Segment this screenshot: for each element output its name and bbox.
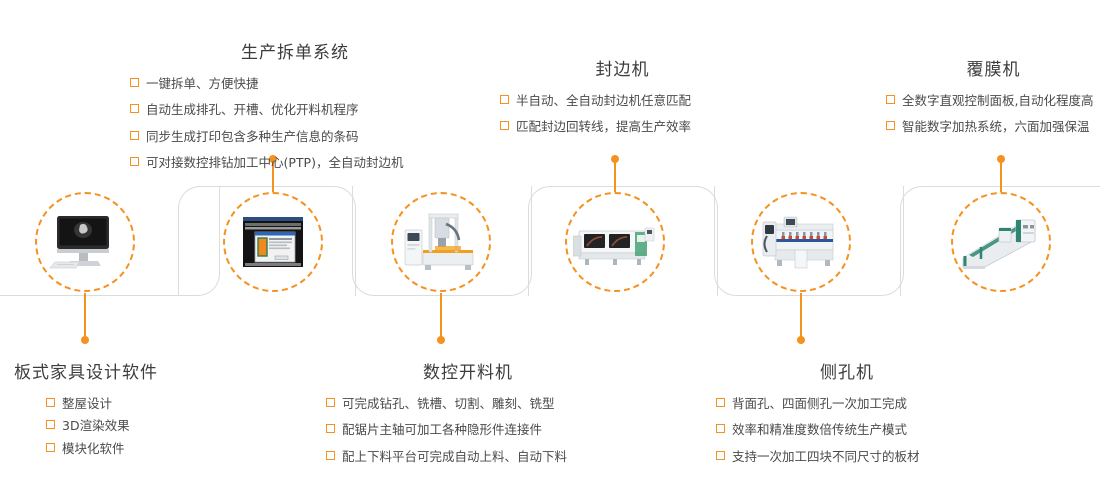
infographic-canvas: 生产拆单系统 一键拆单、方便快捷 自动生成排孔、开槽、优化开料机程序 同步生成打… [0,0,1100,495]
list-item: 效率和精准度数倍传统生产模式 [716,420,978,439]
section-title-order-splitting: 生产拆单系统 [130,38,460,63]
list-item: 自动生成排孔、开槽、优化开料机程序 [130,100,460,119]
list-item: 一键拆单、方便快捷 [130,74,460,93]
side-drilling-machine-icon [759,206,843,278]
section-title-edge-bander: 封边机 [500,55,745,80]
node-circle-order-splitting[interactable] [223,192,323,292]
list-item: 全数字直观控制面板,自动化程度高 [886,91,1100,110]
connector-dot-cnc-router [437,336,445,344]
connector-stem-side-driller [800,293,802,339]
imac-computer-icon [43,206,127,278]
section-title-laminator: 覆膜机 [886,55,1100,80]
feature-list-side-driller: 背面孔、四面侧孔一次加工完成 效率和精准度数倍传统生产模式 支持一次加工四块不同… [716,394,978,466]
laminating-machine-icon [959,206,1043,278]
list-item: 支持一次加工四块不同尺寸的板材 [716,447,978,466]
list-item: 半自动、全自动封边机任意匹配 [500,91,745,110]
text-block-design-software: 板式家具设计软件 整屋设计 3D渲染效果 模块化软件 [14,358,234,461]
list-item: 同步生成打印包含多种生产信息的条码 [130,127,460,146]
section-title-design-software: 板式家具设计软件 [14,358,234,383]
list-item: 背面孔、四面侧孔一次加工完成 [716,394,978,413]
edge-banding-machine-icon [573,206,657,278]
list-item: 配上下料平台可完成自动上料、自动下料 [326,447,610,466]
cnc-router-machine-icon [399,206,483,278]
list-item: 智能数字加热系统，六面加强保温 [886,117,1100,136]
cad-software-screen-icon [231,206,315,278]
connector-dot-laminator [997,155,1005,163]
text-block-edge-bander: 封边机 半自动、全自动封边机任意匹配 匹配封边回转线，提高生产效率 [500,55,745,144]
list-item: 可对接数控排钻加工中心(PTP)，全自动封边机 [130,153,460,172]
node-circle-side-driller[interactable] [751,192,851,292]
connector-dot-edge-bander [611,155,619,163]
list-item: 匹配封边回转线，提高生产效率 [500,117,745,136]
node-circle-design-software[interactable] [35,192,135,292]
text-block-cnc-router: 数控开料机 可完成钻孔、铣槽、切割、雕刻、铣型 配锯片主轴可加工各种隐形件连接件… [326,358,610,473]
list-item: 配锯片主轴可加工各种隐形件连接件 [326,420,610,439]
text-block-laminator: 覆膜机 全数字直观控制面板,自动化程度高 智能数字加热系统，六面加强保温 [886,55,1100,144]
feature-list-laminator: 全数字直观控制面板,自动化程度高 智能数字加热系统，六面加强保温 [886,91,1100,137]
feature-list-order-splitting: 一键拆单、方便快捷 自动生成排孔、开槽、优化开料机程序 同步生成打印包含多种生产… [130,74,460,173]
list-item: 模块化软件 [46,439,234,458]
node-circle-laminator[interactable] [951,192,1051,292]
section-title-cnc-router: 数控开料机 [326,358,610,383]
feature-list-edge-bander: 半自动、全自动封边机任意匹配 匹配封边回转线，提高生产效率 [500,91,745,137]
connector-stem-cnc-router [440,293,442,339]
connector-dot-design-software [81,336,89,344]
text-block-order-splitting: 生产拆单系统 一键拆单、方便快捷 自动生成排孔、开槽、优化开料机程序 同步生成打… [130,38,460,180]
connector-dot-side-driller [797,336,805,344]
connector-stem-design-software [84,293,86,339]
node-circle-edge-bander[interactable] [565,192,665,292]
list-item: 可完成钻孔、铣槽、切割、雕刻、铣型 [326,394,610,413]
node-circle-cnc-router[interactable] [391,192,491,292]
list-item: 整屋设计 [46,394,234,413]
feature-list-cnc-router: 可完成钻孔、铣槽、切割、雕刻、铣型 配锯片主轴可加工各种隐形件连接件 配上下料平… [326,394,610,466]
section-title-side-driller: 侧孔机 [716,358,978,383]
feature-list-design-software: 整屋设计 3D渲染效果 模块化软件 [46,394,234,458]
text-block-side-driller: 侧孔机 背面孔、四面侧孔一次加工完成 效率和精准度数倍传统生产模式 支持一次加工… [716,358,978,473]
list-item: 3D渲染效果 [46,416,234,435]
